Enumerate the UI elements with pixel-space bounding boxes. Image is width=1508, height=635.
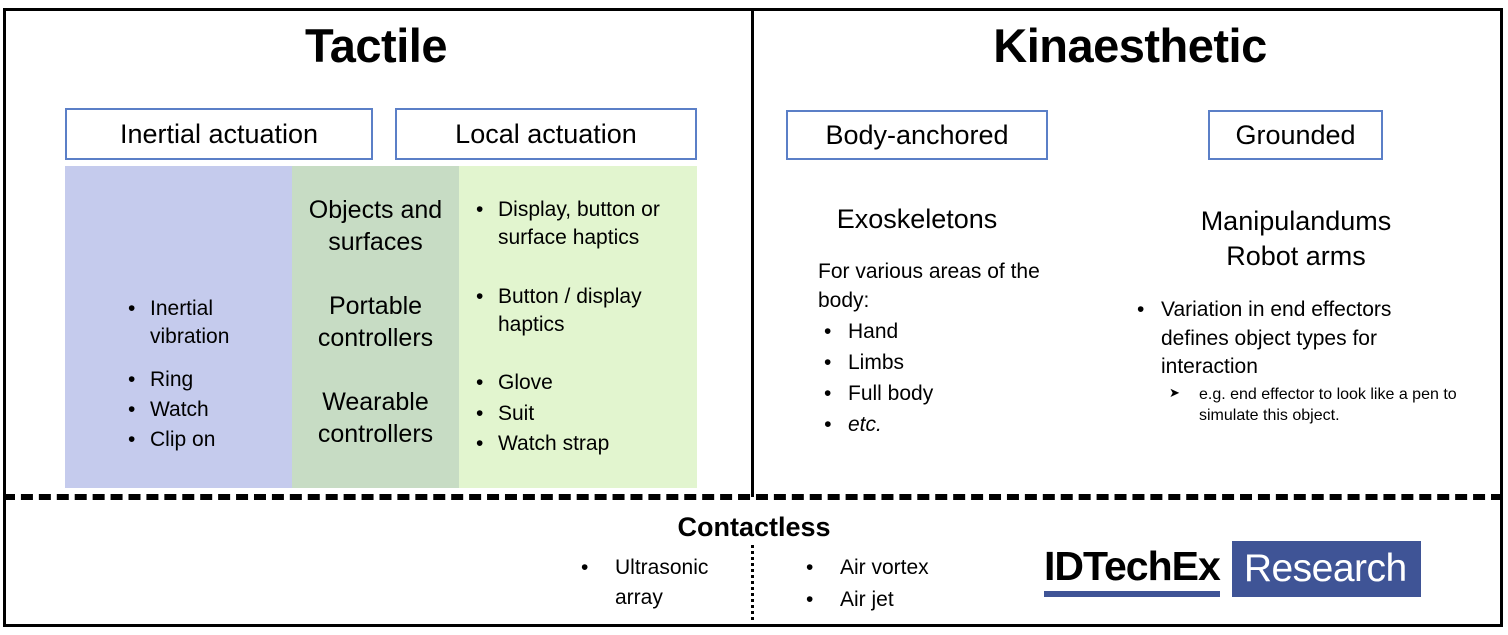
list-item: Watch strap: [472, 430, 694, 458]
list-item: Full body: [818, 380, 1048, 409]
label-portable-controllers: Portable controllers: [292, 290, 459, 354]
list-item: Ring: [124, 366, 294, 394]
grounded-heading-line-1: Manipulandums: [1150, 204, 1442, 239]
list-item: Suit: [472, 400, 694, 428]
list-item: Air jet: [800, 585, 1000, 615]
label-wearable-controllers: Wearable controllers: [292, 386, 459, 450]
inertial-group-2: Ring Watch Clip on: [124, 366, 294, 453]
idtechex-research-logo: IDTechEx Research: [1044, 541, 1421, 597]
tactile-section-title: Tactile: [0, 18, 752, 73]
idtechex-wordmark-text: IDTechEx: [1044, 543, 1220, 589]
label-objects-and-surfaces: Objects and surfaces: [292, 194, 459, 258]
header-box-inertial-actuation[interactable]: Inertial actuation: [65, 108, 373, 160]
list-item: Clip on: [124, 426, 294, 454]
grounded-heading: Manipulandums Robot arms: [1150, 204, 1442, 273]
contactless-dashed-divider: [3, 494, 1503, 500]
kinaesthetic-section-title: Kinaesthetic: [756, 18, 1504, 73]
list-item: Air vortex: [800, 553, 1000, 583]
inertial-column-content: Inertial vibration Ring Watch Clip on: [124, 295, 294, 456]
body-anchored-lead: For various areas of the body:: [818, 258, 1048, 316]
list-item: Limbs: [818, 349, 1048, 378]
list-item: etc.: [818, 411, 1048, 440]
contactless-dotted-divider: [751, 545, 754, 620]
display-group-3: Glove Suit Watch strap: [472, 369, 694, 458]
header-box-local-actuation[interactable]: Local actuation: [395, 108, 697, 160]
idtechex-wordmark: IDTechEx: [1044, 541, 1232, 597]
logo-underline-bar: [1044, 591, 1220, 597]
grounded-heading-line-2: Robot arms: [1150, 239, 1442, 274]
contactless-right-list: Air vortex Air jet: [800, 553, 1000, 617]
grounded-content: Variation in end effectors defines objec…: [1133, 296, 1463, 429]
haptics-taxonomy-diagram: Tactile Inertial actuation Local actuati…: [0, 0, 1508, 635]
list-item: Variation in end effectors defines objec…: [1133, 296, 1463, 427]
list-item: Ultrasonic array: [575, 553, 745, 613]
objects-column-content: Objects and surfaces Portable controller…: [292, 194, 459, 482]
tactile-kinaesthetic-divider: [751, 8, 754, 497]
list-item-sub: e.g. end effector to look like a pen to …: [1161, 384, 1463, 427]
list-item: Inertial vibration: [124, 295, 294, 350]
exoskeletons-heading: Exoskeletons: [786, 204, 1048, 235]
contactless-left-list: Ultrasonic array: [575, 553, 745, 615]
header-box-body-anchored[interactable]: Body-anchored: [786, 110, 1048, 160]
display-group-2: Button / display haptics: [472, 283, 694, 340]
list-item: Display, button or surface haptics: [472, 196, 694, 253]
contactless-section-title: Contactless: [0, 512, 1508, 543]
display-column-content: Display, button or surface haptics Butto…: [472, 196, 694, 488]
display-group-1: Display, button or surface haptics: [472, 196, 694, 253]
list-item: Glove: [472, 369, 694, 397]
research-badge: Research: [1232, 541, 1421, 597]
list-item: Watch: [124, 396, 294, 424]
list-item: Hand: [818, 318, 1048, 347]
body-anchored-content: For various areas of the body: Hand Limb…: [818, 258, 1048, 442]
inertial-group-1: Inertial vibration: [124, 295, 294, 350]
list-item: Button / display haptics: [472, 283, 694, 340]
header-box-grounded[interactable]: Grounded: [1208, 110, 1383, 160]
grounded-bullet-text: Variation in end effectors defines objec…: [1161, 298, 1391, 378]
